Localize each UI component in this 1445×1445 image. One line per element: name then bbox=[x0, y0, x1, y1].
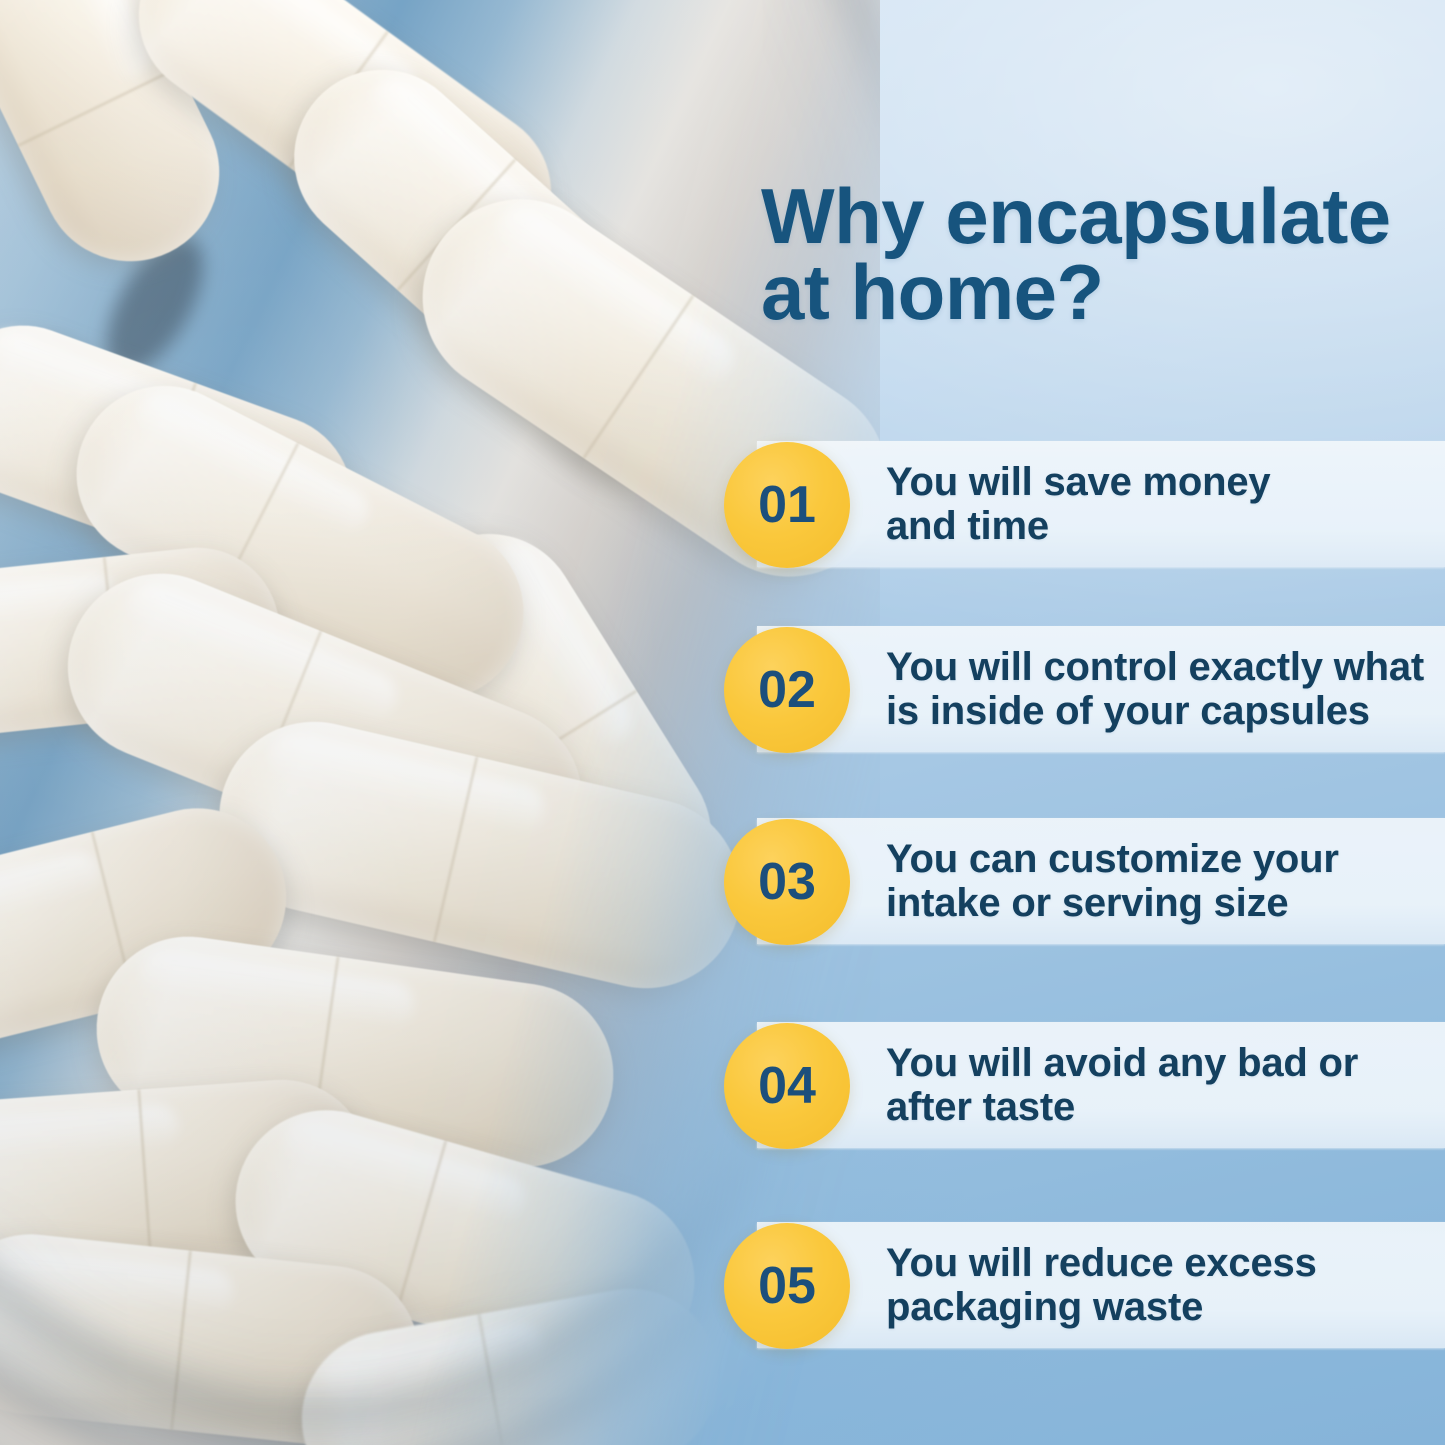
number-badge-label: 01 bbox=[758, 475, 816, 535]
list-item-line-1: You can customize your bbox=[886, 837, 1339, 881]
list-item-text: You will reduce excess packaging waste bbox=[886, 1241, 1337, 1329]
list-item-line-2: packaging waste bbox=[886, 1285, 1317, 1329]
page-title-line-2: at home? bbox=[761, 254, 1421, 330]
list-item-line-1: You will reduce excess bbox=[886, 1241, 1317, 1285]
list-item-line-1: You will control exactly what bbox=[886, 645, 1424, 689]
list-item: 03 You can customize your intake or serv… bbox=[724, 811, 1445, 951]
list-item-text: You will avoid any bad or after taste bbox=[886, 1041, 1378, 1129]
list-item-line-2: is inside of your capsules bbox=[886, 689, 1424, 733]
number-badge-label: 02 bbox=[758, 660, 816, 720]
number-badge: 01 bbox=[724, 442, 850, 568]
number-badge-label: 05 bbox=[758, 1256, 816, 1316]
list-item: 04 You will avoid any bad or after taste bbox=[724, 1015, 1445, 1155]
number-badge: 05 bbox=[724, 1223, 850, 1349]
list-item-text: You can customize your intake or serving… bbox=[886, 837, 1359, 925]
list-item: 02 You will control exactly what is insi… bbox=[724, 619, 1445, 759]
page-title: Why encapsulate at home? bbox=[761, 178, 1421, 331]
list-item-line-2: after taste bbox=[886, 1085, 1358, 1129]
number-badge: 04 bbox=[724, 1023, 850, 1149]
number-badge-label: 03 bbox=[758, 852, 816, 912]
number-badge-label: 04 bbox=[758, 1056, 816, 1116]
content-column: Why encapsulate at home? 01 You will sav… bbox=[0, 0, 1445, 1445]
poster-canvas: Why encapsulate at home? 01 You will sav… bbox=[0, 0, 1445, 1445]
number-badge: 02 bbox=[724, 627, 850, 753]
page-title-line-1: Why encapsulate bbox=[761, 172, 1391, 260]
list-item-line-1: You will save money bbox=[886, 460, 1270, 504]
list-item-text: You will control exactly what is inside … bbox=[886, 645, 1444, 733]
number-badge: 03 bbox=[724, 819, 850, 945]
list-item-line-1: You will avoid any bad or bbox=[886, 1041, 1358, 1085]
list-item: 05 You will reduce excess packaging wast… bbox=[724, 1215, 1445, 1355]
list-item-text: You will save money and time bbox=[886, 460, 1290, 548]
list-item: 01 You will save money and time bbox=[724, 434, 1445, 574]
list-item-line-2: intake or serving size bbox=[886, 881, 1339, 925]
list-item-line-2: and time bbox=[886, 504, 1270, 548]
